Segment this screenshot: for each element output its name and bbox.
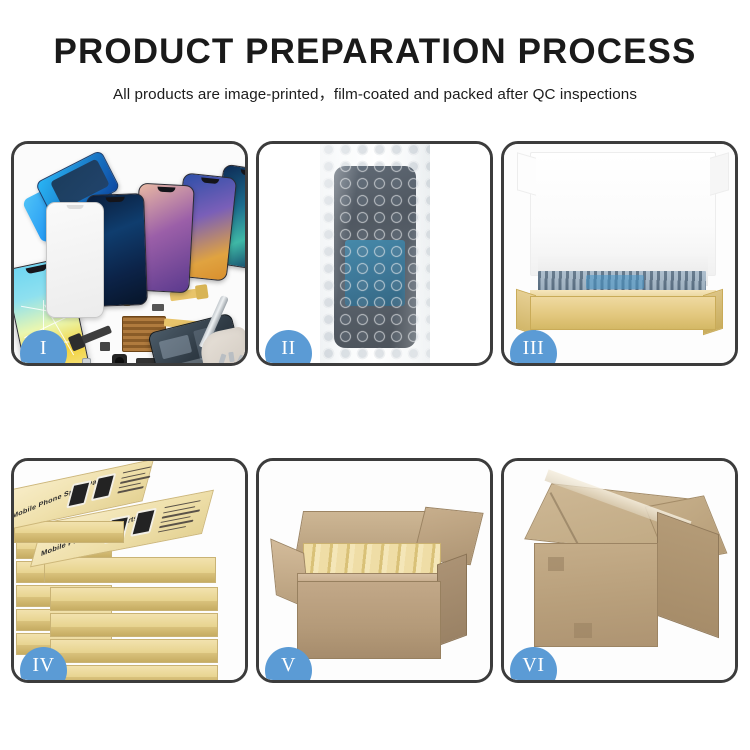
carton-mark-1-graphic	[548, 557, 564, 571]
step-panel-6: VI	[501, 458, 738, 683]
step-panel-1: I	[11, 141, 248, 366]
header: PRODUCT PREPARATION PROCESS All products…	[0, 0, 750, 104]
step-panel-4: Mobile Phone Spare Parts Mobile Phone Sp…	[11, 458, 248, 683]
plastic-sheen-graphic	[320, 144, 430, 363]
sealed-carton-right-graphic	[657, 512, 719, 639]
kraft-box-front-graphic	[530, 296, 716, 330]
carton-side-graphic	[437, 554, 467, 647]
process-steps-grid: I II III	[11, 141, 739, 690]
page-subtitle: All products are image-printed，film-coat…	[0, 82, 750, 104]
step-panel-2: II	[256, 141, 493, 366]
screws-graphic	[220, 352, 245, 363]
step-panel-3: III	[501, 141, 738, 366]
carton-mark-2-graphic	[574, 623, 592, 638]
page-title: PRODUCT PREPARATION PROCESS	[0, 34, 750, 71]
screen-protector-graphic	[46, 202, 104, 318]
step-panel-5: V	[256, 458, 493, 683]
carton-body-graphic	[297, 581, 441, 659]
